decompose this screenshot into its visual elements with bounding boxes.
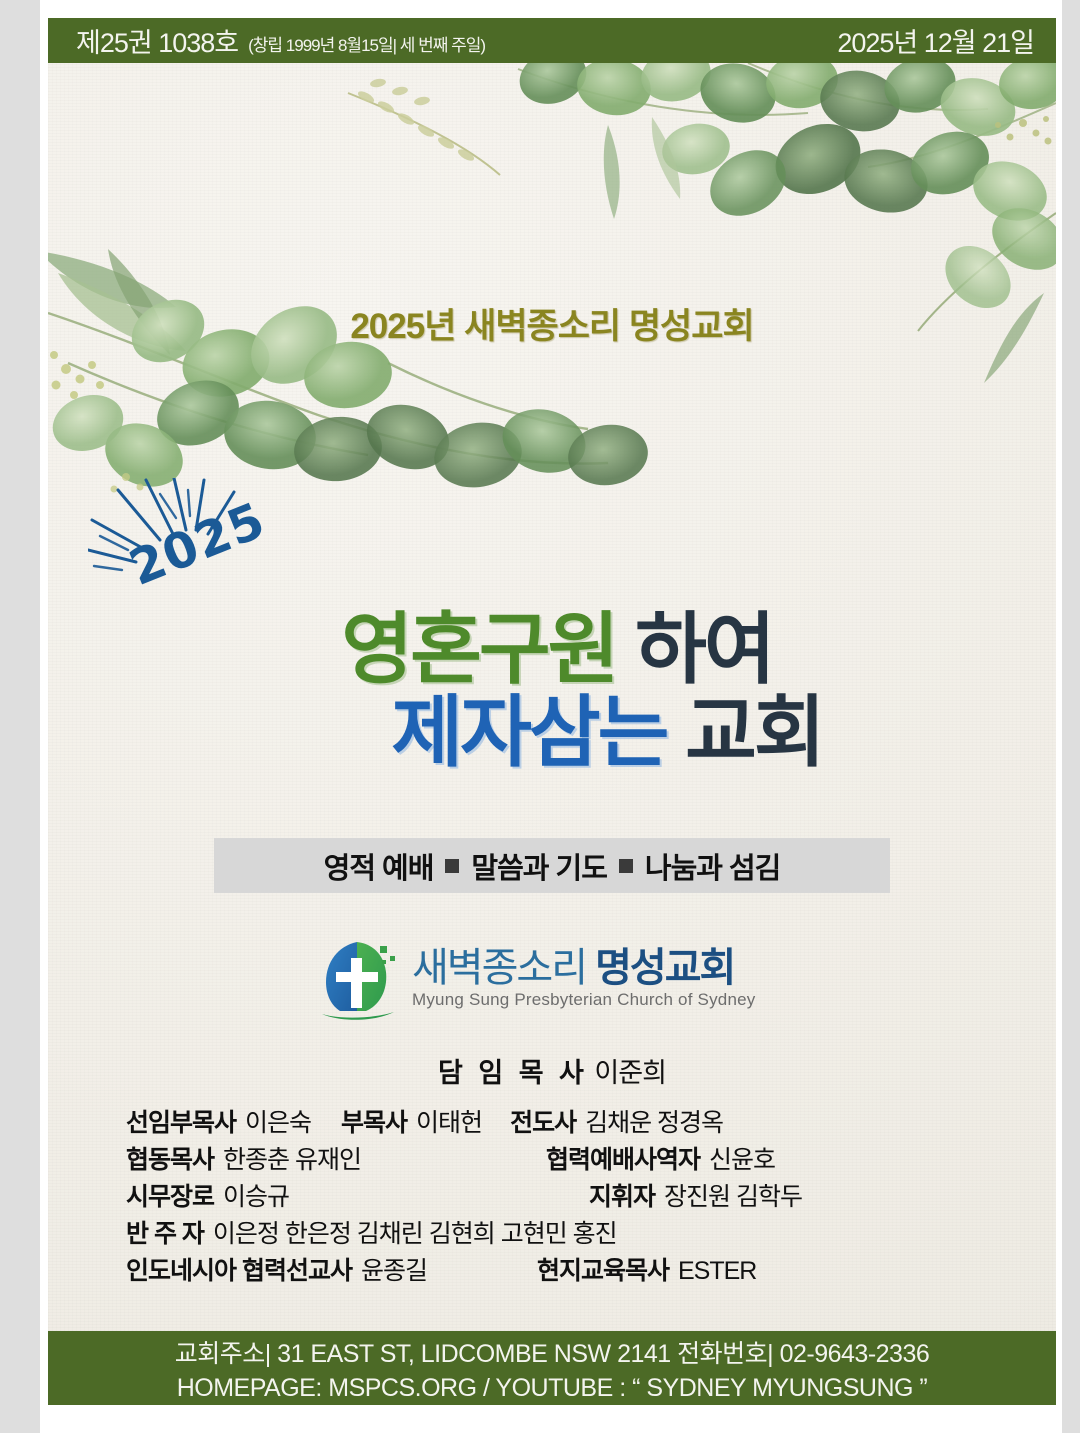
church-logo-leaf-cross-icon <box>318 936 400 1022</box>
cover-paper: 2025년 새벽종소리 명성교회 <box>48 63 1056 1331</box>
eucalyptus-foliage-decoration <box>48 63 1056 493</box>
staff-names: 신윤호 <box>709 1140 775 1176</box>
church-logo-text: 새벽종소리 명성교회 Myung Sung Presbyterian Churc… <box>412 948 755 1011</box>
issue-header-bar: 제25권 1038호 (창립 1999년 8월15일| 세 번째 주일) 202… <box>48 18 1056 63</box>
staff-role-title: 전도사 <box>510 1103 576 1139</box>
footer-homepage-youtube: HOMEPAGE: MSPCS.ORG / YOUTUBE : “ SYDNEY… <box>177 1374 928 1403</box>
cover-slogan: 영혼구원 하여 제자삼는 교회 <box>48 608 1056 773</box>
staff-role-title: 지휘자 <box>589 1177 655 1213</box>
motto-banner: 영적 예배 말씀과 기도 나눔과 섬김 <box>214 838 890 893</box>
logo-korean-part-1: 새벽종소리 <box>412 946 586 990</box>
motto-item-1: 영적 예배 <box>324 845 434 887</box>
staff-names: 장진원 김학두 <box>664 1177 802 1213</box>
staff-names: ESTER <box>678 1257 756 1286</box>
lead-pastor-line: 담 임 목 사 이준희 <box>48 1051 1056 1090</box>
church-logo: 새벽종소리 명성교회 Myung Sung Presbyterian Churc… <box>318 929 786 1029</box>
church-logo-korean: 새벽종소리 명성교회 <box>412 948 755 989</box>
staff-role-title: 현지교육목사 <box>537 1251 669 1287</box>
staff-roster: 선임부목사이은숙부목사이태헌전도사김채운 정경옥협동목사한종춘 유재인협력예배사… <box>48 1103 1056 1288</box>
staff-names: 이태헌 <box>416 1103 482 1139</box>
slogan-line-2: 제자삼는 교회 <box>48 691 1056 774</box>
staff-role-title: 시무장로 <box>126 1177 214 1213</box>
staff-names: 이은정 한은정 김채린 김현희 고현민 홍진 <box>213 1214 617 1250</box>
logo-korean-part-2: 명성교회 <box>595 946 734 990</box>
staff-role-title: 협동목사 <box>126 1140 214 1176</box>
handwritten-year-badge: 2025 <box>88 478 348 613</box>
square-bullet-icon <box>619 859 633 873</box>
church-logo-english: Myung Sung Presbyterian Church of Sydney <box>412 990 755 1010</box>
staff-row: 선임부목사이은숙부목사이태헌전도사김채운 정경옥 <box>48 1103 1056 1140</box>
slogan-word-yeonghon-guwon: 영혼구원 <box>341 605 616 693</box>
motto-item-3: 나눔과 섬김 <box>645 845 780 887</box>
staff-names: 김채운 정경옥 <box>585 1103 723 1139</box>
staff-row: 협동목사한종춘 유재인협력예배사역자신윤호 <box>48 1140 1056 1177</box>
slogan-line-1: 영혼구원 하여 <box>48 608 1056 691</box>
slogan-word-jejasamneun: 제자삼는 <box>391 688 666 776</box>
staff-role-title: 반 주 자 <box>126 1214 204 1250</box>
slogan-word-hayeo: 하여 <box>635 605 773 693</box>
staff-names: 한종춘 유재인 <box>223 1140 361 1176</box>
staff-role-title: 선임부목사 <box>126 1103 236 1139</box>
staff-names: 윤종길 <box>361 1251 427 1287</box>
issue-volume: 제25권 1038호 <box>76 21 238 60</box>
square-bullet-icon <box>445 859 459 873</box>
footer-address-phone: 교회주소| 31 EAST ST, LIDCOMBE NSW 2141 전화번호… <box>175 1334 930 1370</box>
footer-contact-bar: 교회주소| 31 EAST ST, LIDCOMBE NSW 2141 전화번호… <box>48 1331 1056 1405</box>
issue-info: 제25권 1038호 (창립 1999년 8월15일| 세 번째 주일) <box>76 18 485 63</box>
staff-row: 인도네시아 협력선교사윤종길현지교육목사ESTER <box>48 1251 1056 1288</box>
issue-date: 2025년 12월 21일 <box>837 18 1034 63</box>
staff-role-title: 협력예배사역자 <box>546 1140 700 1176</box>
staff-row: 시무장로이승규지휘자장진원 김학두 <box>48 1177 1056 1214</box>
staff-names: 이승규 <box>223 1177 289 1213</box>
bulletin-page: 제25권 1038호 (창립 1999년 8월15일| 세 번째 주일) 202… <box>40 0 1062 1433</box>
issue-founding-note: (창립 1999년 8월15일| 세 번째 주일) <box>248 26 485 56</box>
staff-row: 반 주 자이은정 한은정 김채린 김현희 고현민 홍진 <box>48 1214 1056 1251</box>
lead-pastor-title: 담 임 목 사 <box>438 1058 588 1088</box>
staff-role-title: 인도네시아 협력선교사 <box>126 1251 352 1287</box>
lead-pastor-name: 이준희 <box>594 1058 666 1088</box>
cover-mini-title: 2025년 새벽종소리 명성교회 <box>48 298 1056 349</box>
slogan-word-gyohoe: 교회 <box>685 688 823 776</box>
staff-role-title: 부목사 <box>341 1103 407 1139</box>
motto-item-2: 말씀과 기도 <box>471 845 606 887</box>
staff-names: 이은숙 <box>245 1103 311 1139</box>
